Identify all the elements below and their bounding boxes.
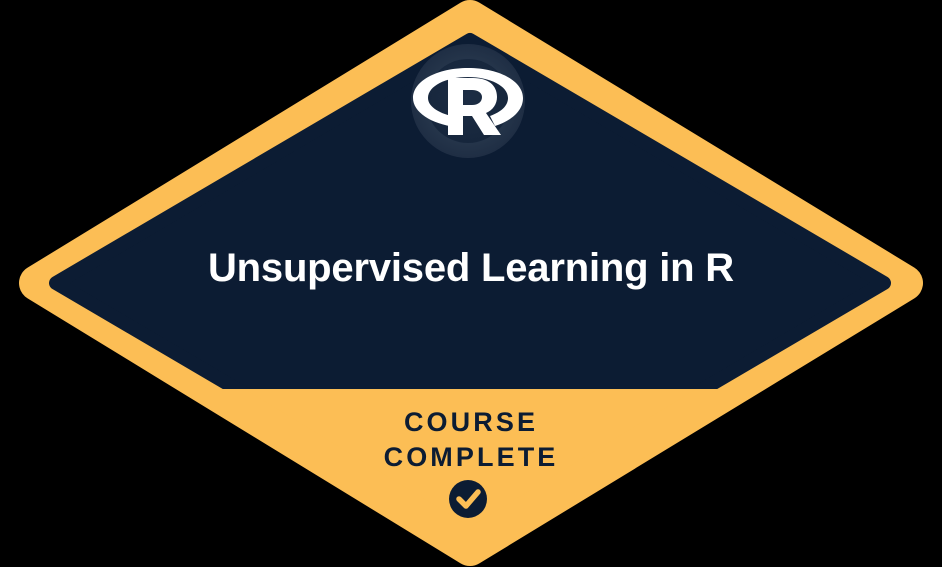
check-circle-icon — [449, 480, 487, 518]
course-completion-badge: Unsupervised Learning in R COURSE COMPLE… — [0, 0, 942, 567]
badge-graphic — [0, 0, 942, 567]
